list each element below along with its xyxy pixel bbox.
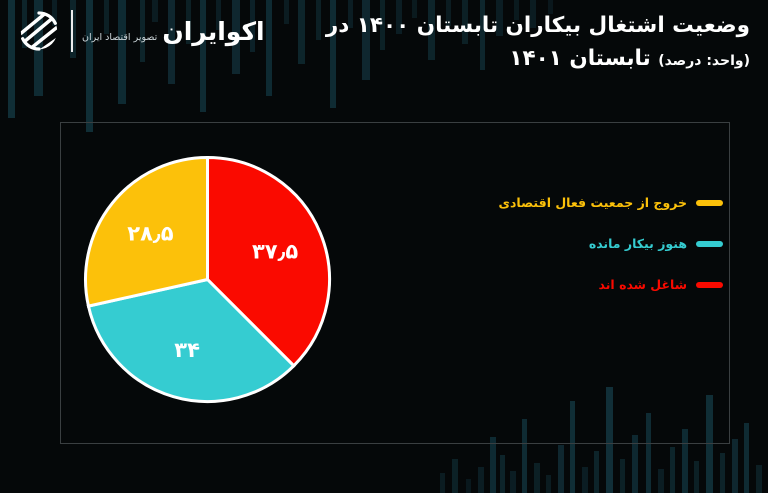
pie-slice-group [86, 158, 330, 402]
brand-logo: اکوایران تصویر اقتصاد ایران [16, 8, 265, 54]
pie-slice-value-label: ۳۴ [174, 338, 200, 362]
legend-item-label: شاغل شده اند [599, 277, 687, 292]
legend-color-swatch [696, 200, 723, 206]
pie-chart: ۳۷٫۵۳۴۲۸٫۵ [81, 153, 334, 406]
legend-item-became-employed[interactable]: شاغل شده اند [453, 277, 723, 292]
legend-item-exit-labor-force[interactable]: خروج از جمعیت فعال اقتصادی [453, 195, 723, 210]
brand-text: اکوایران تصویر اقتصاد ایران [82, 19, 265, 44]
legend-color-swatch [696, 241, 723, 247]
title-unit: (واحد: درصد) [658, 53, 750, 69]
vertical-divider-icon [71, 10, 73, 52]
legend-item-still-unemployed[interactable]: هنوز بیکار مانده [453, 236, 723, 251]
pie-chart-svg: ۳۷٫۵۳۴۲۸٫۵ [81, 153, 334, 406]
pie-slice-value-label: ۲۸٫۵ [127, 222, 173, 246]
chart-panel: ۳۷٫۵۳۴۲۸٫۵ خروج از جمعیت فعال اقتصادی هن… [60, 122, 730, 444]
header: اکوایران تصویر اقتصاد ایران وضعیت اشتغال… [0, 0, 768, 118]
title-line-2-text: تابستان ۱۴۰۱ [509, 46, 650, 71]
legend-item-label: خروج از جمعیت فعال اقتصادی [499, 195, 687, 210]
title-line-2: (واحد: درصد) تابستان ۱۴۰۱ [250, 43, 750, 74]
title-line-1: وضعیت اشتغال بیکاران تابستان ۱۴۰۰ در [250, 10, 750, 41]
eco-globe-stripes-icon [16, 8, 62, 54]
chart-legend: خروج از جمعیت فعال اقتصادی هنوز بیکار ما… [453, 195, 723, 292]
legend-color-swatch [696, 282, 723, 288]
brand-tagline: تصویر اقتصاد ایران [82, 32, 157, 43]
pie-slice-value-label: ۳۷٫۵ [252, 240, 298, 264]
legend-item-label: هنوز بیکار مانده [589, 236, 687, 251]
page-title: وضعیت اشتغال بیکاران تابستان ۱۴۰۰ در (وا… [250, 10, 750, 74]
